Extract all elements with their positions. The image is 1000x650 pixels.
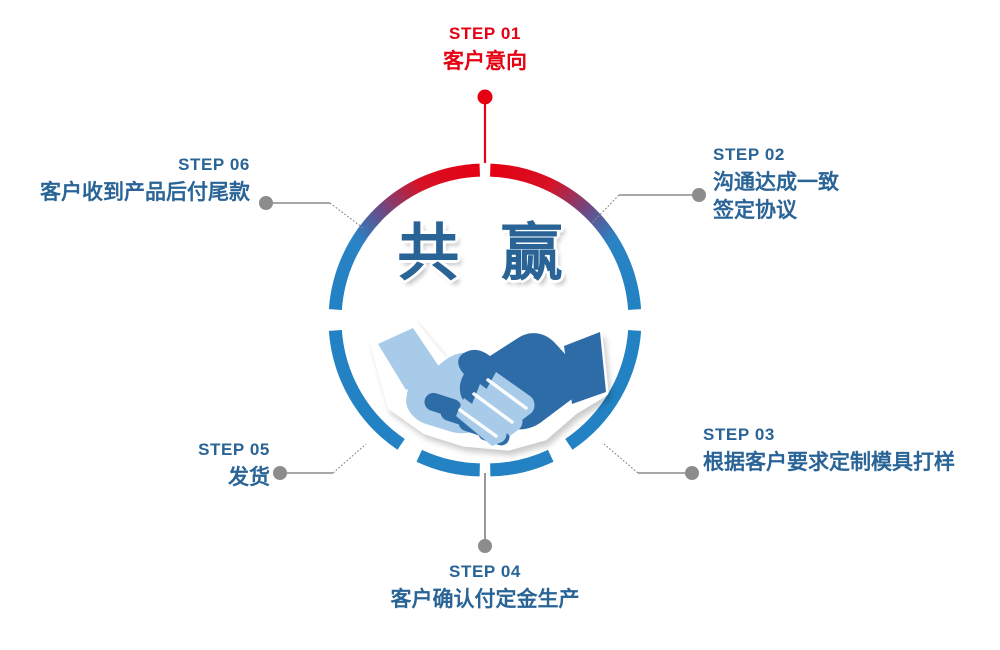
step-01-kicker: STEP 01 [355, 24, 615, 44]
step-03-title: 根据客户要求定制模具打样 [703, 449, 993, 477]
step-06-title: 客户收到产品后付尾款 [20, 179, 250, 207]
connector-dot-01 [478, 90, 493, 105]
connector-dot-02 [692, 188, 706, 202]
step-03: STEP 03 根据客户要求定制模具打样 [703, 425, 993, 477]
step-03-kicker: STEP 03 [703, 425, 993, 445]
ring-segment-4 [419, 456, 480, 470]
step-05-kicker: STEP 05 [20, 440, 270, 460]
step-05: STEP 05 发货 [20, 440, 270, 492]
step-06-kicker: STEP 06 [20, 155, 250, 175]
step-01-title: 客户意向 [355, 48, 615, 76]
connector-dot-05 [273, 466, 287, 480]
step-02-title-line2: 签定协议 [713, 197, 973, 225]
step-02: STEP 02 沟通达成一致 签定协议 [713, 145, 973, 225]
step-04-kicker: STEP 04 [355, 562, 615, 582]
handshake-icon [368, 318, 608, 448]
step-06: STEP 06 客户收到产品后付尾款 [20, 155, 250, 207]
step-05-title: 发货 [20, 464, 270, 492]
center-word: 共 赢 [355, 222, 615, 284]
step-01: STEP 01 客户意向 [355, 24, 615, 76]
step-02-title-line1: 沟通达成一致 [713, 169, 973, 197]
connector-dot-04 [478, 539, 492, 553]
step-04: STEP 04 客户确认付定金生产 [355, 562, 615, 614]
step-04-title: 客户确认付定金生产 [355, 586, 615, 614]
infographic-canvas: 共 赢 [0, 0, 1000, 650]
ring-segment-3 [490, 456, 551, 470]
step-02-kicker: STEP 02 [713, 145, 973, 165]
connector-dot-03 [685, 466, 699, 480]
connector-dot-06 [259, 196, 273, 210]
